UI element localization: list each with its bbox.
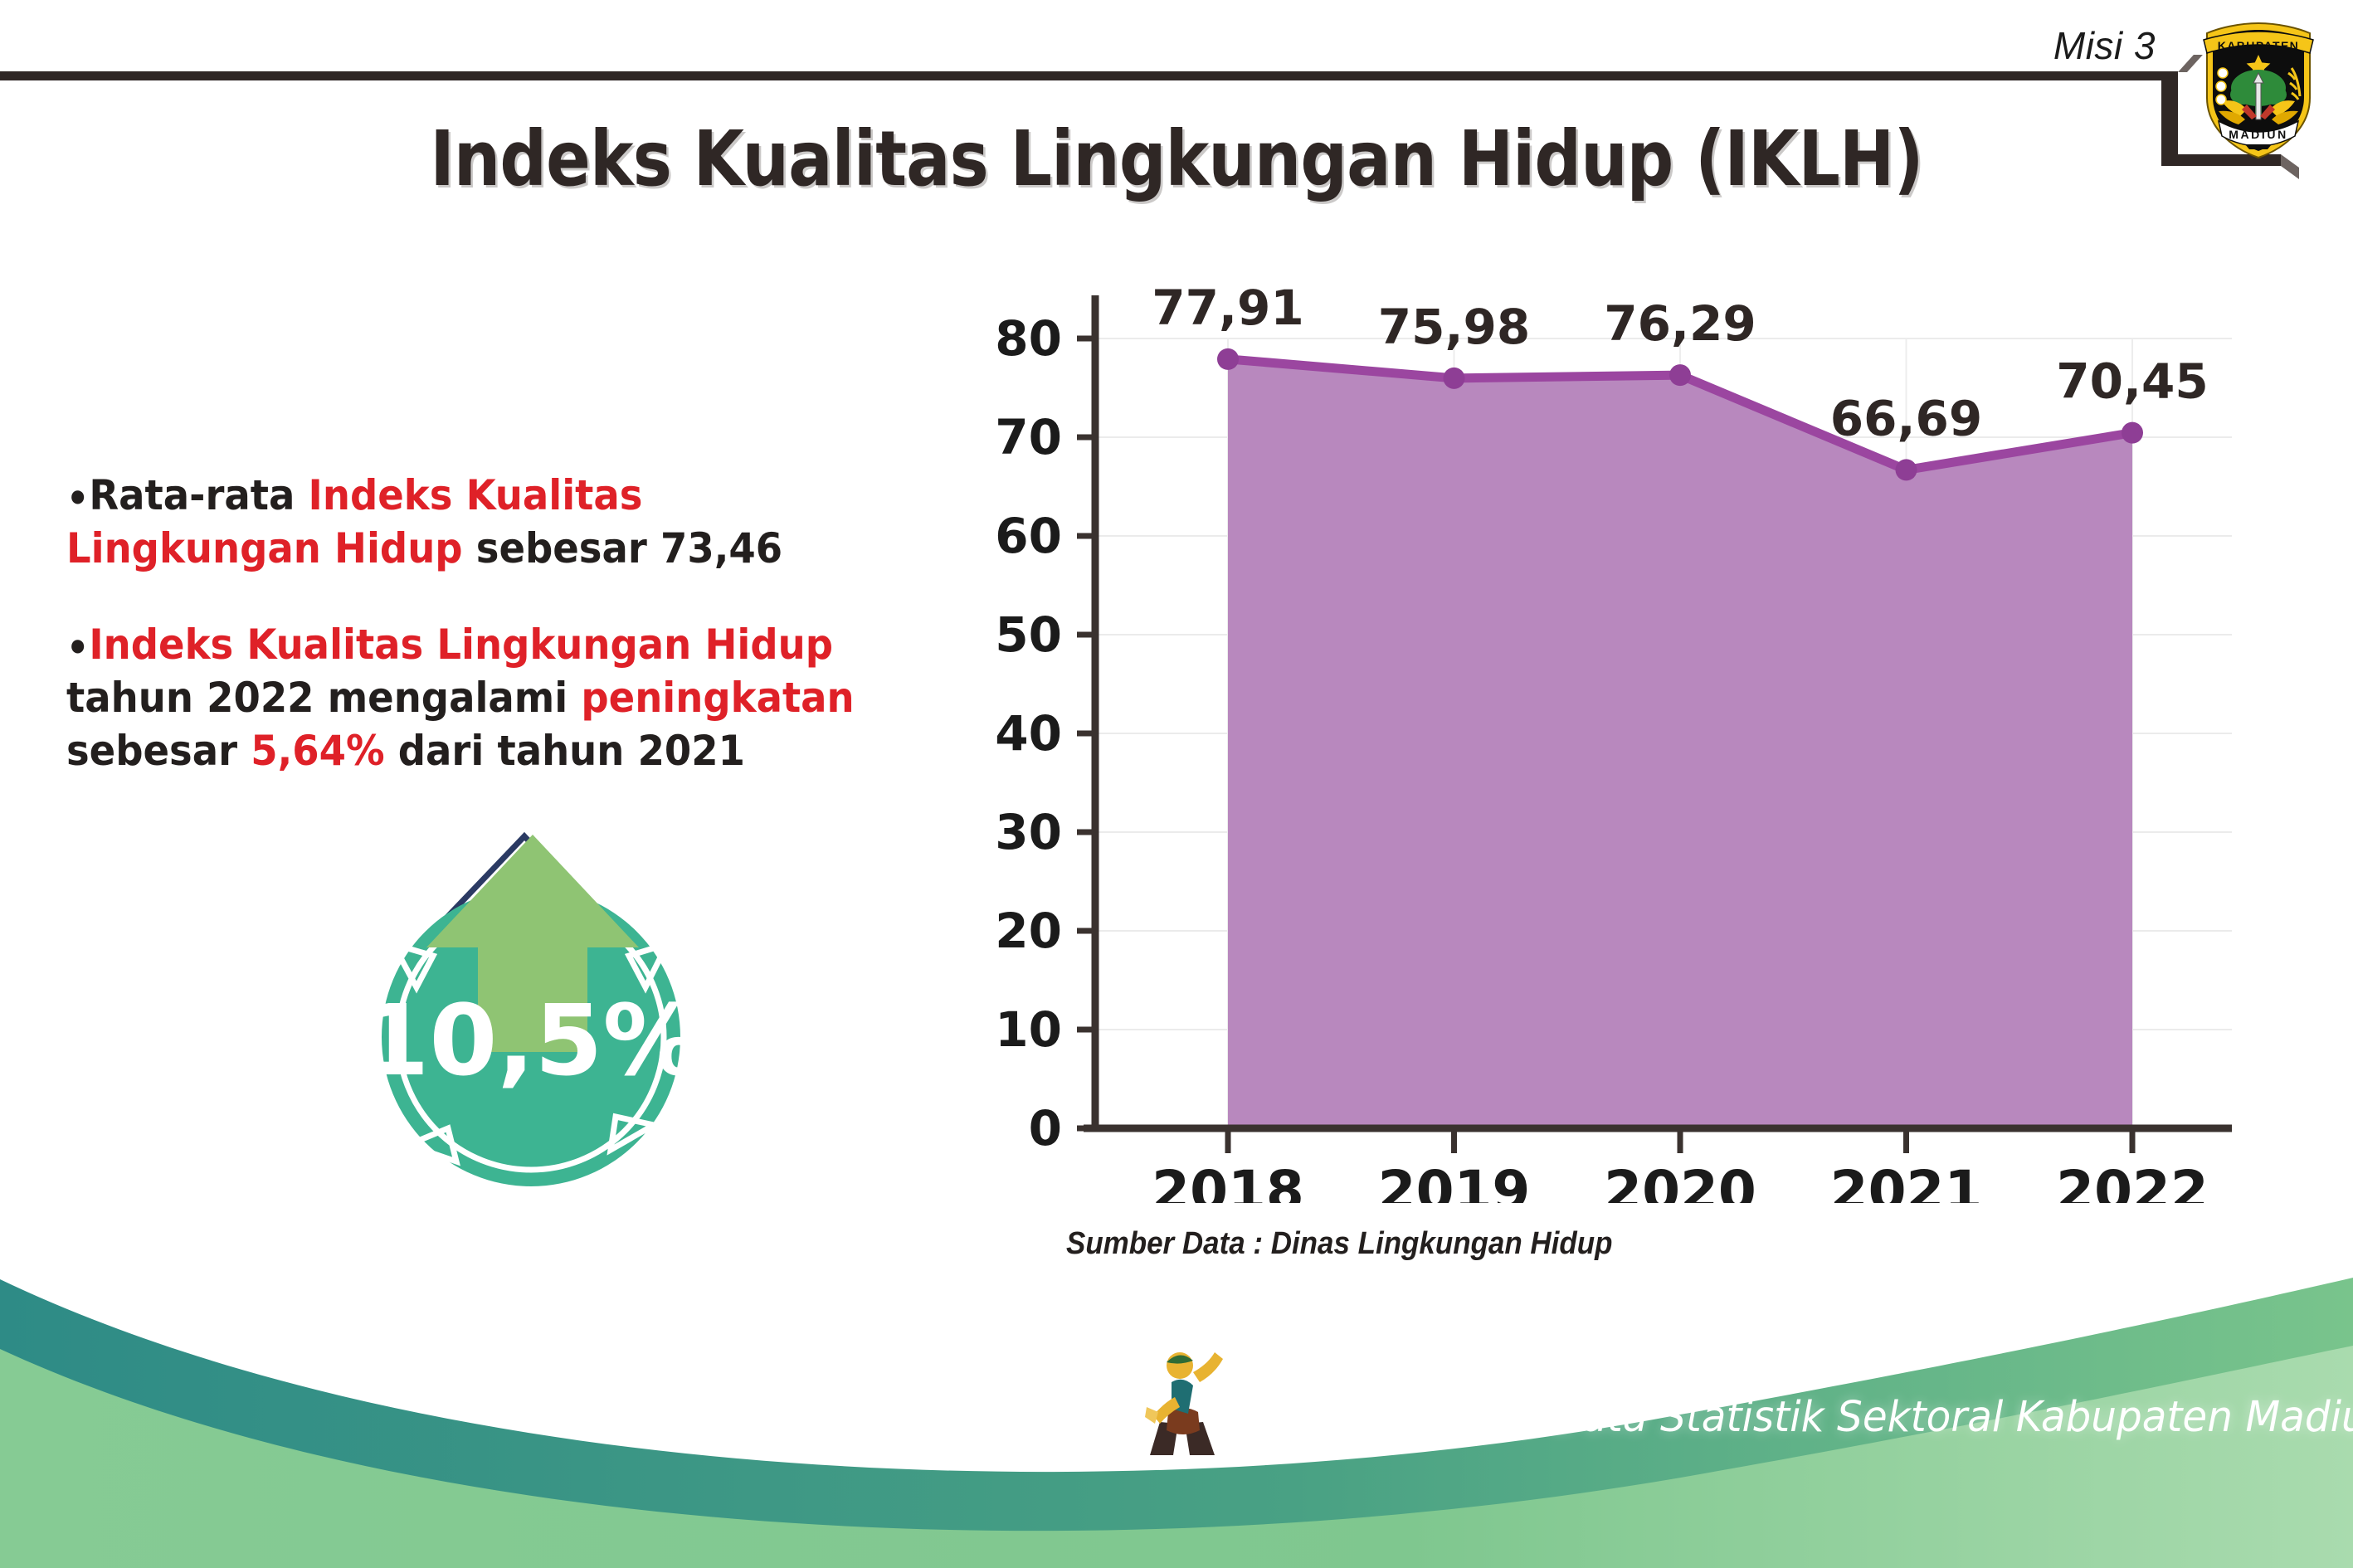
bullet-marker: • (66, 626, 89, 670)
footer-caption: Media Infografis Data Statistik Sektoral… (1215, 1393, 2353, 1442)
header-rule (0, 71, 2170, 80)
kabupaten-madiun-logo-icon: KABUPATEN MA (2189, 18, 2328, 161)
list-item: •Rata-rata Indeks Kualitas Lingkungan Hi… (66, 469, 899, 575)
data-label: 76,29 (1604, 295, 1756, 352)
data-point-marker (1217, 348, 1239, 370)
area-fill (1228, 359, 2132, 1128)
data-label: 70,45 (2056, 353, 2208, 410)
x-tick-label: 2018 (1152, 1159, 1304, 1203)
y-tick-label: 60 (995, 508, 1062, 564)
data-label: 77,91 (1152, 280, 1303, 336)
y-tick-label: 30 (995, 804, 1062, 860)
svg-text:MADIUN: MADIUN (2229, 128, 2288, 141)
y-tick-label: 70 (995, 409, 1062, 465)
data-label: 66,69 (1830, 390, 1982, 446)
source-note: Sumber Data : Dinas Lingkungan Hidup (1066, 1226, 1612, 1262)
slide-root: Misi 3 KABUPATEN (0, 0, 2353, 1568)
x-tick-label: 2020 (1604, 1159, 1756, 1203)
bullet-text-red-1: Indeks Kualitas Lingkungan Hidup (89, 621, 833, 669)
bullet-text-plain-0b: sebesar 73,46 (476, 524, 782, 572)
bullet-text-plain-1: tahun 2022 mengalami (66, 674, 581, 722)
bullet-text-red-1b: peningkatan (581, 674, 854, 722)
data-point-marker (1444, 368, 1465, 389)
growth-badge: 10,5% (315, 747, 747, 1211)
x-tick-label: 2019 (1378, 1159, 1531, 1203)
y-tick-label: 40 (995, 705, 1062, 762)
data-point-marker (1669, 364, 1691, 386)
data-label: 75,98 (1378, 299, 1530, 355)
x-tick-label: 2021 (1830, 1159, 1983, 1203)
bullet-text-plain-1b: sebesar (66, 727, 251, 775)
iklh-area-chart: 77,9175,9876,2966,6970,45010203040506070… (979, 274, 2273, 1203)
misi-label: Misi 3 (2053, 23, 2156, 68)
bullet-text-plain-0: Rata-rata (89, 471, 308, 519)
bps-figure-icon (1135, 1344, 1228, 1462)
y-tick-label: 10 (995, 1001, 1062, 1058)
x-tick-label: 2022 (2056, 1159, 2209, 1203)
data-point-marker (2122, 422, 2143, 444)
y-tick-label: 50 (995, 606, 1062, 663)
bullet-marker: • (66, 476, 89, 521)
y-tick-label: 80 (995, 310, 1062, 367)
y-tick-label: 20 (995, 903, 1062, 959)
badge-value: 10,5% (361, 983, 700, 1098)
svg-text:KABUPATEN: KABUPATEN (2218, 39, 2299, 52)
page-title: Indeks Kualitas Lingkungan Hidup (IKLH) (165, 114, 2189, 203)
data-point-marker (1896, 459, 1917, 480)
y-tick-label: 0 (1029, 1100, 1062, 1157)
